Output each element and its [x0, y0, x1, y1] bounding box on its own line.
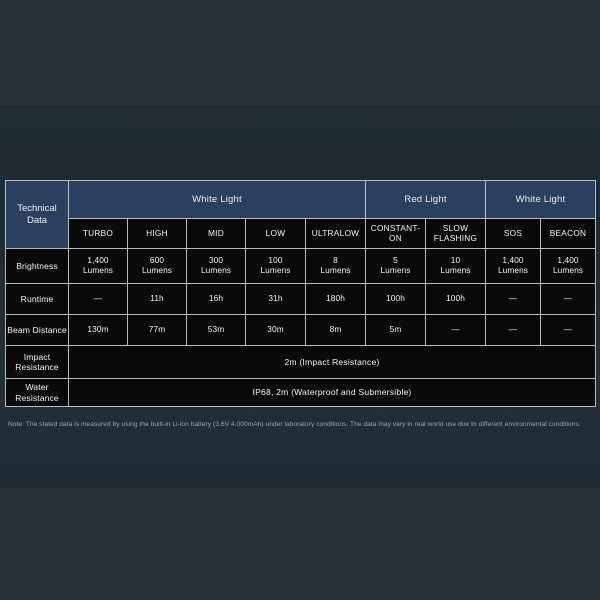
- table-row: Brightness1,400Lumens600Lumens300Lumens1…: [6, 249, 596, 284]
- cell-impact-resistance-value: 2m (Impact Resistance): [69, 346, 596, 379]
- cell-brightness-high: 600Lumens: [128, 249, 187, 284]
- group-header-3: White Light: [486, 181, 596, 219]
- technical-data-table: Technical DataWhite LightRed LightWhite …: [5, 180, 596, 407]
- cell-brightness-slow-flashing: 10Lumens: [426, 249, 486, 284]
- cell-brightness-low: 100Lumens: [246, 249, 306, 284]
- cell-beam-distance-constant-on: 5m: [366, 315, 426, 346]
- cell-runtime-low: 31h: [246, 284, 306, 315]
- cell-runtime-slow-flashing: 100h: [426, 284, 486, 315]
- footnote: Note: The stated data is measured by usi…: [8, 419, 592, 431]
- row-label-beam-distance: Beam Distance: [6, 315, 69, 346]
- group-header-2: Red Light: [366, 181, 486, 219]
- cell-runtime-turbo: —: [69, 284, 128, 315]
- table-row: Beam Distance130m77m53m30m8m5m———: [6, 315, 596, 346]
- mode-header-ultralow: ULTRALOW: [306, 219, 366, 249]
- group-header-1: White Light: [69, 181, 366, 219]
- cell-beam-distance-beacon: —: [541, 315, 596, 346]
- cell-runtime-sos: —: [486, 284, 541, 315]
- table-mode-header-row: TURBOHIGHMIDLOWULTRALOWCONSTANT-ONSLOW F…: [6, 219, 596, 249]
- row-label-runtime: Runtime: [6, 284, 69, 315]
- table-row: Runtime—11h16h31h180h100h100h——: [6, 284, 596, 315]
- mode-header-sos: SOS: [486, 219, 541, 249]
- cell-brightness-beacon: 1,400Lumens: [541, 249, 596, 284]
- table-group-header-row: Technical DataWhite LightRed LightWhite …: [6, 181, 596, 219]
- mode-header-turbo: TURBO: [69, 219, 128, 249]
- mode-header-constant-on: CONSTANT-ON: [366, 219, 426, 249]
- cell-runtime-high: 11h: [128, 284, 187, 315]
- table-corner-label: Technical Data: [6, 181, 69, 249]
- cell-beam-distance-low: 30m: [246, 315, 306, 346]
- table-row: Impact Resistance2m (Impact Resistance): [6, 346, 596, 379]
- row-label-impact-resistance: Impact Resistance: [6, 346, 69, 379]
- mode-header-low: LOW: [246, 219, 306, 249]
- cell-water-resistance-value: IP68, 2m (Waterproof and Submersible): [69, 379, 596, 407]
- cell-brightness-mid: 300Lumens: [187, 249, 246, 284]
- cell-brightness-sos: 1,400Lumens: [486, 249, 541, 284]
- cell-beam-distance-ultralow: 8m: [306, 315, 366, 346]
- cell-beam-distance-mid: 53m: [187, 315, 246, 346]
- cell-runtime-beacon: —: [541, 284, 596, 315]
- cell-beam-distance-sos: —: [486, 315, 541, 346]
- cell-brightness-ultralow: 8Lumens: [306, 249, 366, 284]
- cell-beam-distance-turbo: 130m: [69, 315, 128, 346]
- mode-header-slow-flashing: SLOW FLASHING: [426, 219, 486, 249]
- cell-brightness-constant-on: 5Lumens: [366, 249, 426, 284]
- cell-runtime-ultralow: 180h: [306, 284, 366, 315]
- cell-beam-distance-slow-flashing: —: [426, 315, 486, 346]
- cell-beam-distance-high: 77m: [128, 315, 187, 346]
- mode-header-mid: MID: [187, 219, 246, 249]
- cell-runtime-constant-on: 100h: [366, 284, 426, 315]
- row-label-brightness: Brightness: [6, 249, 69, 284]
- mode-header-high: HIGH: [128, 219, 187, 249]
- table-row: Water ResistanceIP68, 2m (Waterproof and…: [6, 379, 596, 407]
- cell-brightness-turbo: 1,400Lumens: [69, 249, 128, 284]
- mode-header-beacon: BEACON: [541, 219, 596, 249]
- cell-runtime-mid: 16h: [187, 284, 246, 315]
- row-label-water-resistance: Water Resistance: [6, 379, 69, 407]
- technical-data-table-container: Technical DataWhite LightRed LightWhite …: [5, 180, 595, 407]
